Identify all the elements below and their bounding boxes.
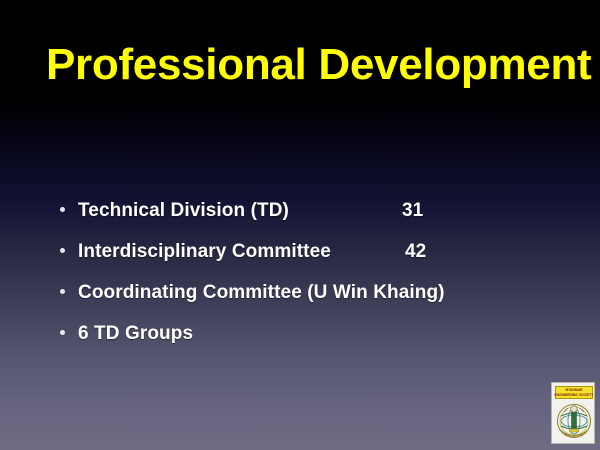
list-item: 6 TD Groups [60, 313, 540, 354]
slide-canvas: Professional Development Technical Divis… [0, 0, 600, 450]
logo-banner: MYANMAR ENGINEERING SOCIETY [555, 386, 593, 399]
bullet-dot-icon [60, 289, 65, 294]
list-item: Coordinating Committee (U Win Khaing) [60, 272, 540, 313]
list-item-label: Technical Division (TD) [78, 200, 289, 222]
bullet-dot-icon [60, 207, 65, 212]
list-item-count: 31 [402, 200, 423, 222]
list-item: Technical Division (TD) 31 [60, 190, 540, 231]
list-item-label: Interdisciplinary Committee [78, 241, 331, 263]
logo-emblem-icon [556, 400, 592, 442]
page-title: Professional Development [46, 42, 591, 88]
logo-banner-line-2: ENGINEERING SOCIETY [554, 393, 593, 398]
myanmar-engineering-society-logo: MYANMAR ENGINEERING SOCIETY [551, 382, 595, 444]
bullet-list: Technical Division (TD) 31 Interdiscipli… [60, 190, 540, 354]
bullet-dot-icon [60, 330, 65, 335]
list-item-count: 42 [405, 241, 426, 263]
list-item-label: Coordinating Committee (U Win Khaing) [78, 282, 445, 304]
bullet-dot-icon [60, 248, 65, 253]
list-item-label: 6 TD Groups [78, 323, 193, 345]
list-item: Interdisciplinary Committee 42 [60, 231, 540, 272]
